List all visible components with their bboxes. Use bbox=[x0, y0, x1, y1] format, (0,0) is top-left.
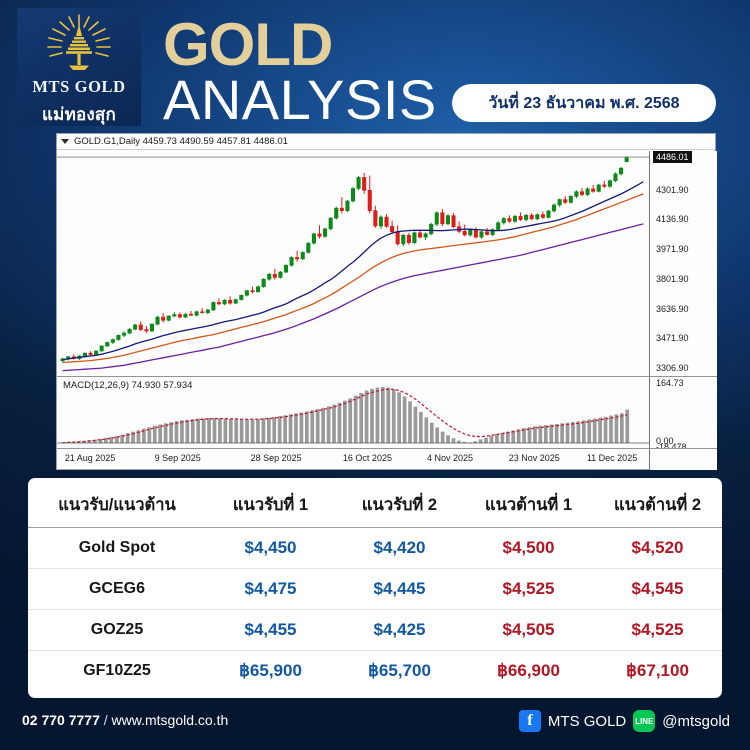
cell-gceg6-support-1: $4,475 bbox=[206, 569, 335, 610]
macd-pane: MACD(12,26,9) 74.930 57.934 164.730.00-1… bbox=[57, 376, 717, 448]
cell-goz25-resistance-1: $4,505 bbox=[464, 610, 593, 651]
logo-name-text: MTS GOLD bbox=[32, 77, 125, 97]
row-label-gf10z25: GF10Z25 bbox=[28, 651, 206, 692]
price-axis-label: 3471.90 bbox=[656, 333, 689, 343]
line-icon[interactable]: LINE bbox=[633, 710, 655, 732]
footer-bar: 02 770 7777 / www.mtsgold.co.th f MTS GO… bbox=[0, 698, 750, 750]
support-resistance-table: แนวรับ/แนวต้าน แนวรับที่ 1 แนวรับที่ 2 แ… bbox=[28, 478, 722, 698]
macd-axis: 164.730.00-18.478 bbox=[649, 377, 717, 448]
cell-gf10z25-resistance-2: ฿67,100 bbox=[593, 651, 722, 692]
time-axis-tick: 28 Sep 2025 bbox=[251, 453, 302, 463]
chevron-down-icon[interactable] bbox=[61, 139, 69, 144]
table-row: Gold Spot $4,450 $4,420 $4,500 $4,520 bbox=[28, 528, 722, 569]
table-row: GCEG6 $4,475 $4,445 $4,525 $4,545 bbox=[28, 569, 722, 610]
table-header-row: แนวรับ/แนวต้าน แนวรับที่ 1 แนวรับที่ 2 แ… bbox=[28, 478, 722, 527]
time-axis-corner bbox=[649, 449, 717, 470]
time-axis-tick: 23 Nov 2025 bbox=[509, 453, 560, 463]
cell-gceg6-resistance-1: $4,525 bbox=[464, 569, 593, 610]
footer-separator: / bbox=[104, 712, 108, 728]
cell-goz25-support-1: $4,455 bbox=[206, 610, 335, 651]
footer-phone: 02 770 7777 bbox=[22, 712, 100, 728]
cell-goz25-support-2: $4,425 bbox=[335, 610, 464, 651]
footer-website[interactable]: www.mtsgold.co.th bbox=[112, 712, 229, 728]
cell-gf10z25-support-2: ฿65,700 bbox=[335, 651, 464, 692]
footer-contact: 02 770 7777 / www.mtsgold.co.th bbox=[22, 712, 228, 728]
page-title-gold: GOLD bbox=[163, 16, 332, 74]
cell-gf10z25-resistance-1: ฿66,900 bbox=[464, 651, 593, 692]
cell-gold-spot-support-1: $4,450 bbox=[206, 528, 335, 569]
line-label[interactable]: @mtsgold bbox=[662, 713, 730, 730]
poster-canvas: MTS GOLD แม่ทองสุก GOLD ANALYSIS วันที่ … bbox=[0, 0, 750, 750]
page-title-analysis: ANALYSIS bbox=[163, 72, 437, 128]
cell-gceg6-support-2: $4,445 bbox=[335, 569, 464, 610]
facebook-label[interactable]: MTS GOLD bbox=[548, 713, 626, 730]
macd-axis-label: 164.73 bbox=[656, 378, 684, 388]
brand-logo: MTS GOLD แม่ทองสุก bbox=[17, 8, 141, 126]
logo-thai-text: แม่ทองสุก bbox=[42, 101, 116, 128]
price-axis-label: 3306.90 bbox=[656, 363, 689, 373]
cell-gceg6-resistance-2: $4,545 bbox=[593, 569, 722, 610]
macd-label: MACD(12,26,9) 74.930 57.934 bbox=[63, 380, 192, 391]
column-header-support-2: แนวรับที่ 2 bbox=[335, 478, 464, 527]
price-axis-label: 3801.90 bbox=[656, 274, 689, 284]
date-badge: วันที่ 23 ธันวาคม พ.ศ. 2568 bbox=[452, 84, 716, 122]
price-pane: 4486.014301.904136.903971.903801.903636.… bbox=[57, 151, 717, 376]
gold-pagoda-icon bbox=[36, 14, 122, 76]
date-badge-text: วันที่ 23 ธันวาคม พ.ศ. 2568 bbox=[488, 91, 679, 116]
time-axis-labels: 21 Aug 20259 Sep 202528 Sep 202516 Oct 2… bbox=[57, 449, 649, 470]
price-plot bbox=[57, 151, 649, 376]
time-axis-tick: 9 Sep 2025 bbox=[155, 453, 201, 463]
table-row: GF10Z25 ฿65,900 ฿65,700 ฿66,900 ฿67,100 bbox=[28, 651, 722, 692]
trading-chart[interactable]: GOLD.G1,Daily 4459.73 4490.59 4457.81 44… bbox=[56, 133, 716, 470]
price-axis-label: 3971.90 bbox=[656, 244, 689, 254]
cell-gold-spot-support-2: $4,420 bbox=[335, 528, 464, 569]
price-axis-label: 4136.90 bbox=[656, 214, 689, 224]
cell-gold-spot-resistance-1: $4,500 bbox=[464, 528, 593, 569]
column-header-resistance-1: แนวต้านที่ 1 bbox=[464, 478, 593, 527]
time-axis-tick: 4 Nov 2025 bbox=[427, 453, 473, 463]
chart-symbol-ohlc: GOLD.G1,Daily 4459.73 4490.59 4457.81 44… bbox=[74, 136, 288, 147]
time-axis-tick: 16 Oct 2025 bbox=[343, 453, 392, 463]
price-axis-label: 4301.90 bbox=[656, 185, 689, 195]
column-header-resistance-2: แนวต้านที่ 2 bbox=[593, 478, 722, 527]
table-row: GOZ25 $4,455 $4,425 $4,505 $4,525 bbox=[28, 610, 722, 651]
cell-goz25-resistance-2: $4,525 bbox=[593, 610, 722, 651]
row-label-gceg6: GCEG6 bbox=[28, 569, 206, 610]
cell-gf10z25-support-1: ฿65,900 bbox=[206, 651, 335, 692]
footer-social: f MTS GOLD LINE @mtsgold bbox=[519, 710, 730, 732]
time-axis: 21 Aug 20259 Sep 202528 Sep 202516 Oct 2… bbox=[57, 448, 717, 470]
time-axis-tick: 21 Aug 2025 bbox=[65, 453, 116, 463]
cell-gold-spot-resistance-2: $4,520 bbox=[593, 528, 722, 569]
time-axis-tick: 11 Dec 2025 bbox=[587, 453, 637, 463]
row-label-goz25: GOZ25 bbox=[28, 610, 206, 651]
row-label-gold-spot: Gold Spot bbox=[28, 528, 206, 569]
chart-header-bar: GOLD.G1,Daily 4459.73 4490.59 4457.81 44… bbox=[57, 134, 715, 150]
price-axis: 4486.014301.904136.903971.903801.903636.… bbox=[649, 151, 717, 376]
price-axis-label: 3636.90 bbox=[656, 304, 689, 314]
facebook-icon[interactable]: f bbox=[519, 710, 541, 732]
column-header-instrument: แนวรับ/แนวต้าน bbox=[28, 478, 206, 527]
price-axis-label: 4486.01 bbox=[653, 151, 692, 163]
column-header-support-1: แนวรับที่ 1 bbox=[206, 478, 335, 527]
